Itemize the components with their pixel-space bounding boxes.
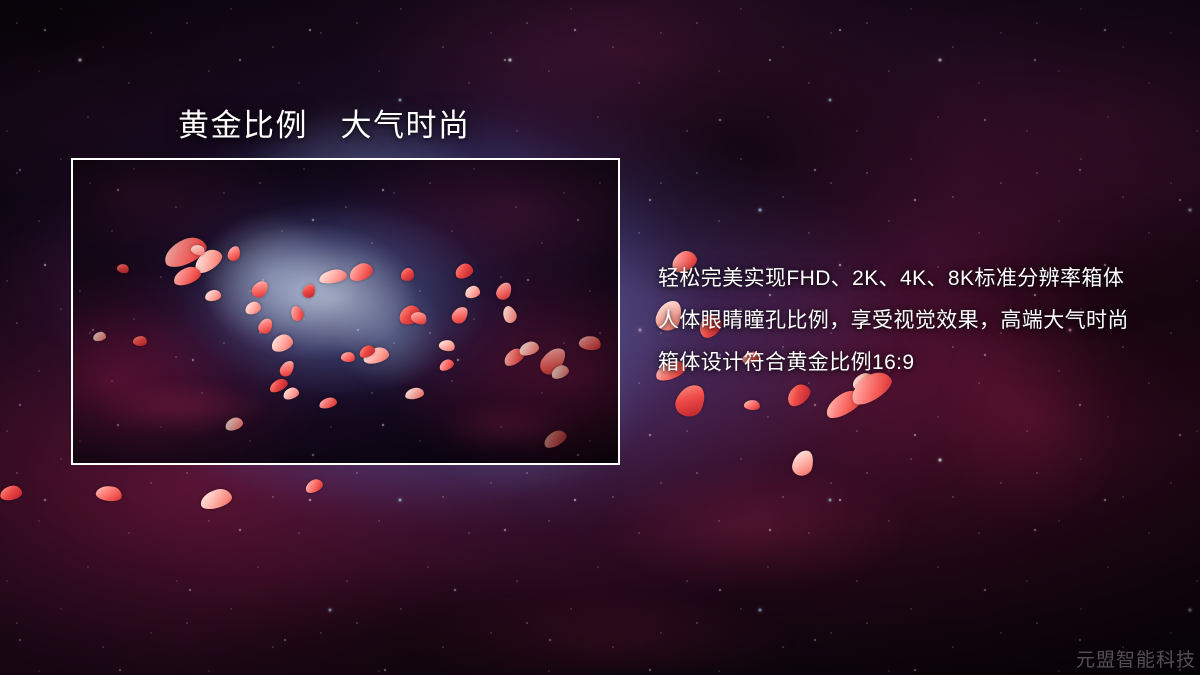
petal-icon xyxy=(672,380,709,421)
photo-content xyxy=(73,160,618,463)
petal-icon xyxy=(95,484,123,503)
body-line-1: 轻松完美实现FHD、2K、4K、8K标准分辨率箱体 xyxy=(658,258,1129,300)
petal-icon xyxy=(743,399,760,411)
body-line-2: 人体眼睛瞳孔比例，享受视觉效果，高端大气时尚 xyxy=(658,300,1129,342)
framed-photo xyxy=(71,158,620,465)
body-text-block: 轻松完美实现FHD、2K、4K、8K标准分辨率箱体 人体眼睛瞳孔比例，享受视觉效… xyxy=(658,258,1129,384)
page-title: 黄金比例 大气时尚 xyxy=(178,100,471,145)
petal-icon xyxy=(783,380,814,409)
slide-canvas: 黄金比例 大气时尚 轻松完美实现FHD、2K、4K、8K标准分辨率箱体 人体眼睛… xyxy=(0,0,1200,675)
petal-icon xyxy=(0,485,23,502)
body-line-3: 箱体设计符合黄金比例16:9 xyxy=(658,342,1129,384)
photo-vignette xyxy=(73,160,618,463)
petal-icon xyxy=(303,477,324,495)
petal-icon xyxy=(790,448,816,478)
watermark: 元盟智能科技 xyxy=(1076,645,1196,672)
petal-icon xyxy=(198,486,233,511)
